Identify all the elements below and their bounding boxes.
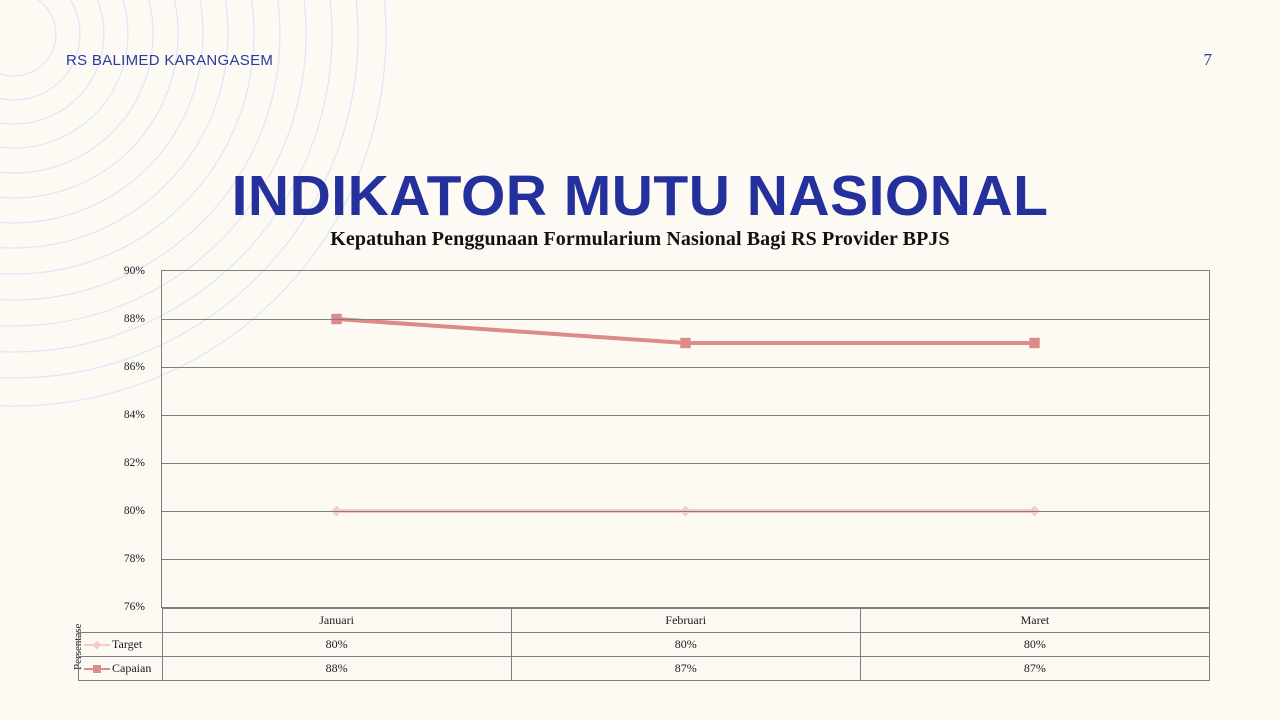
data-point-marker-capaian	[680, 338, 690, 348]
gridline	[162, 319, 1209, 320]
legend-item-target: Target	[79, 633, 163, 657]
table-cell-value: 87%	[860, 657, 1209, 681]
legend-label: Capaian	[112, 661, 151, 676]
category-header-januari: Januari	[162, 609, 511, 633]
slide-header-text: RS BALIMED KARANGASEM	[66, 52, 273, 69]
gridline	[162, 463, 1209, 464]
y-axis-tick-label: 80%	[85, 505, 145, 517]
plot-wrapper: Persentase 90%88%86%84%82%80%78%76% Janu…	[0, 270, 1280, 690]
series-layer	[162, 271, 1209, 607]
y-axis-tick-label: 82%	[85, 457, 145, 469]
chart-title: Kepatuhan Penggunaan Formularium Nasiona…	[0, 228, 1280, 251]
y-axis-tick-label: 84%	[85, 409, 145, 421]
y-axis-tick-label: 86%	[85, 361, 145, 373]
page-title: INDIKATOR MUTU NASIONAL	[0, 167, 1280, 227]
legend-key-diamond-icon	[84, 639, 110, 651]
legend-item-capaian: Capaian	[79, 657, 163, 681]
y-axis-tick-labels: 90%88%86%84%82%80%78%76%	[95, 270, 145, 608]
gridline	[162, 415, 1209, 416]
table-cell-value: 88%	[162, 657, 511, 681]
legend-key-square-icon	[84, 663, 110, 675]
chart-container: Kepatuhan Penggunaan Formularium Nasiona…	[0, 228, 1280, 688]
table-corner-cell	[79, 609, 163, 633]
table-cell-value: 87%	[511, 657, 860, 681]
table-cell-value: 80%	[162, 633, 511, 657]
category-header-maret: Maret	[860, 609, 1209, 633]
legend-label: Target	[112, 637, 142, 652]
y-axis-tick-label: 88%	[85, 313, 145, 325]
y-axis-tick-label: 78%	[85, 553, 145, 565]
gridline	[162, 511, 1209, 512]
chart-data-table: JanuariFebruariMaretTarget80%80%80%Capai…	[78, 608, 1210, 681]
gridline	[162, 559, 1209, 560]
table-row: Target80%80%80%	[79, 633, 1210, 657]
data-point-marker-capaian	[1029, 338, 1039, 348]
table-row: JanuariFebruariMaret	[79, 609, 1210, 633]
gridline	[162, 367, 1209, 368]
y-axis-tick-label: 90%	[85, 265, 145, 277]
page-number: 7	[1204, 50, 1213, 70]
category-header-februari: Februari	[511, 609, 860, 633]
table-cell-value: 80%	[511, 633, 860, 657]
table-row: Capaian88%87%87%	[79, 657, 1210, 681]
plot-area	[161, 270, 1210, 608]
table-cell-value: 80%	[860, 633, 1209, 657]
